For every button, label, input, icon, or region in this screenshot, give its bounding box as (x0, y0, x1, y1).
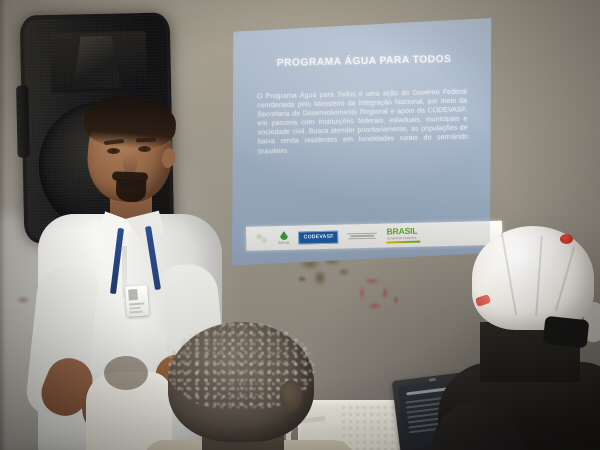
presenter-eye-left (107, 148, 120, 154)
audience-front-ear (280, 380, 302, 412)
audience-member-right (452, 226, 600, 450)
id-badge-line-2 (129, 307, 140, 310)
id-badge-line-3 (130, 311, 143, 314)
presentation-room-photo: PROGRAMA ÁGUA PARA TODOS O Programa Água… (0, 0, 600, 450)
id-badge-photo (128, 289, 138, 301)
audience-member-front (150, 322, 340, 450)
presenter-eye-right (138, 146, 151, 152)
cap-adjuster-strap (543, 316, 590, 348)
id-badge (125, 285, 149, 316)
presenter-goatee (116, 179, 147, 202)
id-badge-line-1 (129, 303, 144, 306)
cap-button-icon (560, 234, 573, 244)
baseball-cap (472, 226, 594, 330)
audience-member-partial-head (104, 356, 148, 390)
